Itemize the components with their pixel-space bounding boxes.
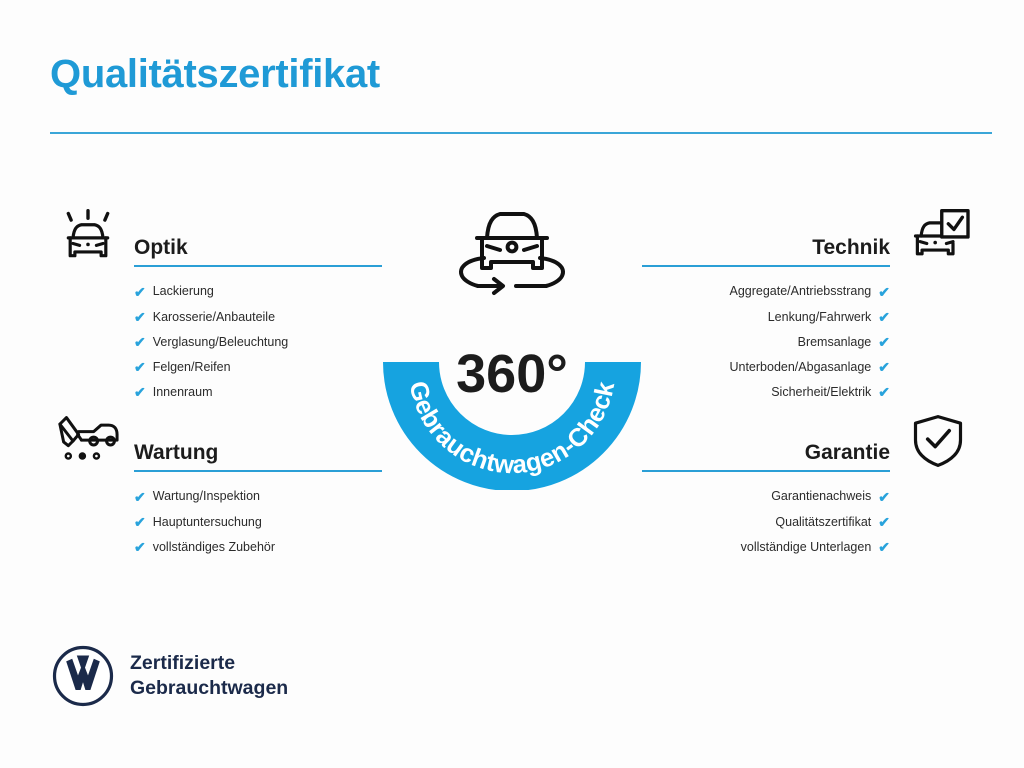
section-garantie-underline [642,470,890,472]
list-item-label: Wartung/Inspektion [153,490,260,503]
check-icon: ✔ [134,335,146,349]
list-item-label: Bremsanlage [798,336,872,349]
section-garantie: Garantie Garantienachweis ✔ Qualitätszer… [618,410,978,560]
car-front-checkbox-icon [898,205,978,267]
section-optik-underline [134,265,382,267]
footer-line-1: Zertifizierte [130,651,288,676]
section-technik-title: Technik [642,236,890,265]
check-icon: ✔ [878,490,890,504]
section-technik-underline [642,265,890,267]
section-wartung-title-wrap: Wartung [134,441,382,472]
certificate-page: Qualitätszertifikat [0,0,1024,768]
optik-check-list: ✔ Lackierung ✔ Karosserie/Anbauteile ✔ V… [134,279,382,405]
list-item-label: Felgen/Reifen [153,361,231,374]
list-item-label: Unterboden/Abgasanlage [729,361,871,374]
list-item-label: Qualitätszertifikat [775,516,871,529]
list-item-label: Aggregate/Antriebsstrang [730,285,872,298]
service-pen-car-icon [48,410,128,472]
list-item-label: Garantienachweis [771,490,871,503]
list-item-label: Lenkung/Fahrwerk [768,311,872,324]
list-item-label: Verglasung/Beleuchtung [153,336,289,349]
check-icon: ✔ [134,385,146,399]
section-garantie-title: Garantie [642,441,890,470]
check-icon: ✔ [878,385,890,399]
vw-logo [52,645,114,707]
list-item-label: Lackierung [153,285,214,298]
list-item-label: vollständige Unterlagen [741,541,872,554]
list-item-label: vollständiges Zubehör [153,541,275,554]
section-optik-header: Optik [48,205,408,267]
list-item: Bremsanlage ✔ [642,329,890,354]
check-icon: ✔ [878,360,890,374]
list-item: Garantienachweis ✔ [642,484,890,509]
check-icon: ✔ [134,540,146,554]
gebrauchtwagen-check-badge: 360° Gebrauchtwagen-Check [383,258,641,490]
section-wartung-header: Wartung [48,410,408,472]
list-item-label: Innenraum [153,386,213,399]
section-optik-title: Optik [134,236,382,265]
list-item: Qualitätszertifikat ✔ [642,509,890,534]
list-item: ✔ Felgen/Reifen [134,355,382,380]
list-item-label: Hauptuntersuchung [153,516,262,529]
list-item: ✔ Lackierung [134,279,382,304]
list-item: ✔ Wartung/Inspektion [134,484,382,509]
check-icon: ✔ [878,515,890,529]
section-garantie-title-wrap: Garantie [642,441,890,472]
footer-text: Zertifizierte Gebrauchtwagen [130,651,288,700]
check-icon: ✔ [134,515,146,529]
list-item: Sicherheit/Elektrik ✔ [642,380,890,405]
check-icon: ✔ [134,285,146,299]
list-item: ✔ Verglasung/Beleuchtung [134,329,382,354]
list-item: Aggregate/Antriebsstrang ✔ [642,279,890,304]
check-icon: ✔ [878,310,890,324]
check-icon: ✔ [878,540,890,554]
section-technik-title-wrap: Technik [642,236,890,267]
section-wartung: Wartung ✔ Wartung/Inspektion ✔ Hauptunte… [48,410,408,560]
section-technik: Technik Aggregate/Antriebsstrang ✔ Lenku… [618,205,978,405]
technik-check-list: Aggregate/Antriebsstrang ✔ Lenkung/Fahrw… [642,279,890,405]
footer-line-2: Gebrauchtwagen [130,676,288,701]
section-technik-header: Technik [618,205,978,267]
check-icon: ✔ [878,335,890,349]
list-item-label: Karosserie/Anbauteile [153,311,275,324]
title-divider [50,132,992,134]
section-wartung-underline [134,470,382,472]
check-icon: ✔ [134,490,146,504]
list-item: Lenkung/Fahrwerk ✔ [642,304,890,329]
list-item: ✔ vollständiges Zubehör [134,534,382,559]
page-title: Qualitätszertifikat [50,54,380,94]
car-front-lights-icon [48,205,128,267]
list-item: ✔ Innenraum [134,380,382,405]
badge-center-label: 360° [456,344,568,404]
section-wartung-title: Wartung [134,441,382,470]
section-garantie-header: Garantie [618,410,978,472]
list-item: ✔ Hauptuntersuchung [134,509,382,534]
wartung-check-list: ✔ Wartung/Inspektion ✔ Hauptuntersuchung… [134,484,382,560]
garantie-check-list: Garantienachweis ✔ Qualitätszertifikat ✔… [642,484,890,560]
list-item-label: Sicherheit/Elektrik [771,386,871,399]
section-optik-title-wrap: Optik [134,236,382,267]
check-icon: ✔ [134,310,146,324]
list-item: vollständige Unterlagen ✔ [642,534,890,559]
brand-footer: Zertifizierte Gebrauchtwagen [52,645,288,707]
shield-check-icon [898,410,978,472]
check-icon: ✔ [134,360,146,374]
section-optik: Optik ✔ Lackierung ✔ Karosserie/Anbautei… [48,205,408,405]
list-item: Unterboden/Abgasanlage ✔ [642,355,890,380]
list-item: ✔ Karosserie/Anbauteile [134,304,382,329]
check-icon: ✔ [878,285,890,299]
